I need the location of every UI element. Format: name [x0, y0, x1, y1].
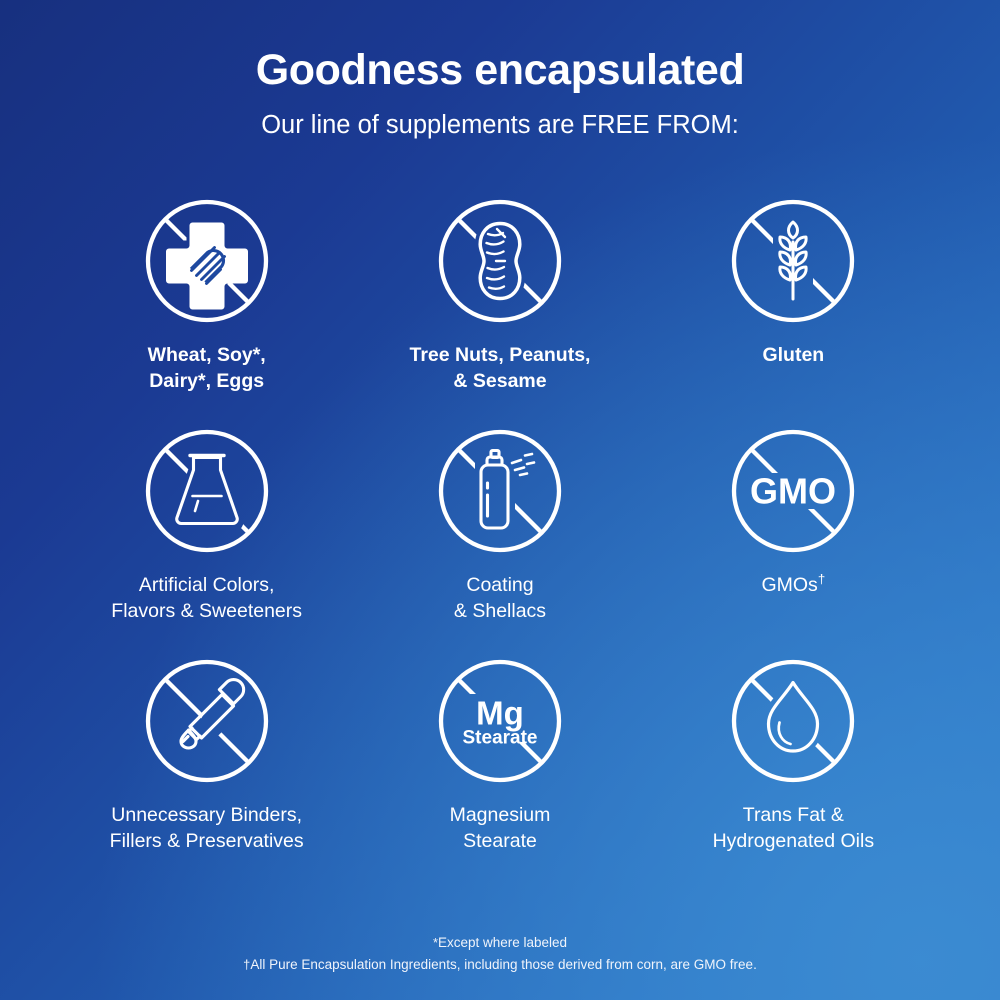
- gmo-glyph-text: GMO: [750, 471, 836, 512]
- no-flask-icon: [144, 428, 270, 554]
- free-from-item-gmos: GMO GMOs†: [647, 428, 940, 658]
- free-from-item-label: Wheat, Soy*, Dairy*, Eggs: [148, 343, 266, 395]
- footnote-dagger: †All Pure Encapsulation Ingredients, inc…: [0, 954, 1000, 976]
- free-from-item-label: GMOs†: [761, 573, 825, 599]
- free-from-item-trans-fat: Trans Fat & Hydrogenated Oils: [647, 658, 940, 888]
- free-from-item-gluten: Gluten: [647, 198, 940, 428]
- poster-header: Goodness encapsulated Our line of supple…: [0, 0, 1000, 139]
- footnotes: *Except where labeled †All Pure Encapsul…: [0, 932, 1000, 976]
- no-wheat-stalk-icon: [730, 198, 856, 324]
- no-oil-droplet-icon: [730, 658, 856, 784]
- page-title: Goodness encapsulated: [0, 48, 1000, 94]
- free-from-item-artificial-colors: Artificial Colors, Flavors & Sweeteners: [60, 428, 353, 658]
- no-gmo-icon: GMO: [730, 428, 856, 554]
- free-from-item-label: Gluten: [762, 343, 824, 369]
- free-from-item-coating: Coating & Shellacs: [353, 428, 646, 658]
- stearate-glyph-text: Stearate: [462, 728, 537, 749]
- footnote-asterisk: *Except where labeled: [0, 932, 1000, 954]
- label-text: GMOs: [761, 574, 817, 596]
- free-from-item-binders: Unnecessary Binders, Fillers & Preservat…: [60, 658, 353, 888]
- mg-glyph-text: Mg: [476, 695, 524, 732]
- free-from-item-label: Artificial Colors, Flavors & Sweeteners: [111, 573, 302, 625]
- no-allergen-cross-fork-icon: [144, 198, 270, 324]
- free-from-item-label: Magnesium Stearate: [450, 803, 551, 855]
- free-from-item-label: Trans Fat & Hydrogenated Oils: [713, 803, 875, 855]
- free-from-item-label: Unnecessary Binders, Fillers & Preservat…: [110, 803, 304, 855]
- free-from-item-nuts: Tree Nuts, Peanuts, & Sesame: [353, 198, 646, 428]
- page-subtitle: Our line of supplements are FREE FROM:: [0, 111, 1000, 139]
- poster-canvas: Goodness encapsulated Our line of supple…: [0, 0, 1000, 1000]
- free-from-icon-grid: Wheat, Soy*, Dairy*, Eggs: [60, 198, 940, 888]
- no-spray-can-icon: [437, 428, 563, 554]
- no-dropper-icon: [144, 658, 270, 784]
- footnote-text: All Pure Encapsulation Ingredients, incl…: [250, 957, 757, 972]
- free-from-item-label: Coating & Shellacs: [454, 573, 546, 625]
- free-from-item-allergens: Wheat, Soy*, Dairy*, Eggs: [60, 198, 353, 428]
- no-magnesium-stearate-icon: Mg Stearate: [437, 658, 563, 784]
- free-from-item-label: Tree Nuts, Peanuts, & Sesame: [410, 343, 591, 395]
- footnote-text: Except where labeled: [438, 935, 567, 950]
- dagger-marker: †: [818, 572, 825, 587]
- no-peanut-icon: [437, 198, 563, 324]
- free-from-item-magnesium-stearate: Mg Stearate Magnesium Stearate: [353, 658, 646, 888]
